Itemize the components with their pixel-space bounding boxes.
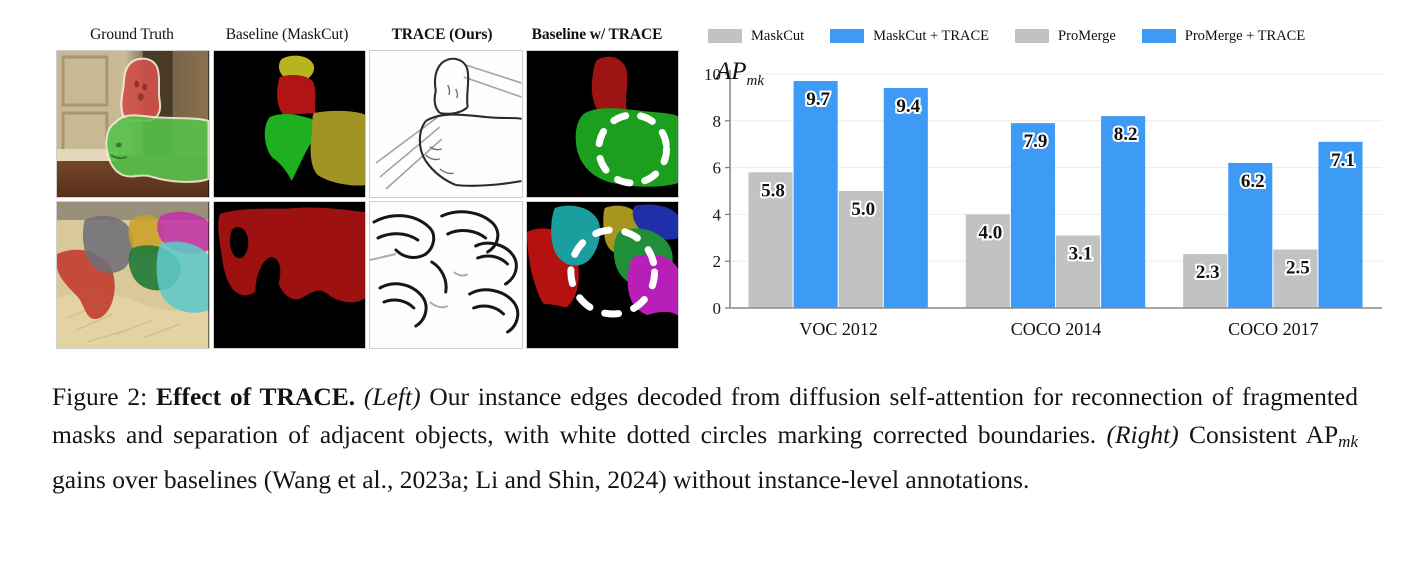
chart-plot-area: 02468105.85.89.79.75.05.09.49.4VOC 20124… xyxy=(690,56,1390,352)
svg-text:6: 6 xyxy=(713,159,722,178)
panel-header-ground-truth: Ground Truth xyxy=(56,22,208,48)
panel-header-baseline-maskcut: Baseline (MaskCut) xyxy=(211,22,363,48)
caption-left-tag: (Left) xyxy=(364,382,421,411)
svg-text:7.1: 7.1 xyxy=(1331,150,1355,171)
svg-text:7.9: 7.9 xyxy=(1024,131,1048,152)
legend-swatch-maskcut-trace xyxy=(830,29,864,43)
svg-text:8.2: 8.2 xyxy=(1114,124,1138,145)
caption-title: Effect of TRACE. xyxy=(156,382,355,411)
panel-header-baseline-w-trace: Baseline w/ TRACE xyxy=(521,22,673,48)
panel-trace-edges-cows-sheep xyxy=(369,201,523,349)
svg-text:5.8: 5.8 xyxy=(761,180,785,201)
chart-svg: 02468105.85.89.79.75.05.09.49.4VOC 20124… xyxy=(690,56,1390,352)
svg-text:2.3: 2.3 xyxy=(1196,262,1220,283)
caption-ap-subscript: mk xyxy=(1338,432,1358,451)
svg-text:9.7: 9.7 xyxy=(806,89,830,110)
legend-swatch-promerge xyxy=(1015,29,1049,43)
svg-text:9.4: 9.4 xyxy=(896,96,920,117)
legend-item-maskcut-trace: MaskCut + TRACE xyxy=(830,28,989,45)
caption-right-text-b: gains over baselines (Wang et al., 2023a… xyxy=(52,465,1029,494)
legend-item-promerge: ProMerge xyxy=(1015,28,1116,45)
legend-item-promerge-trace: ProMerge + TRACE xyxy=(1142,28,1305,45)
legend-label-promerge: ProMerge xyxy=(1058,28,1116,45)
panel-baseline-with-trace-cows-sheep xyxy=(526,201,680,349)
panel-row-cows-sheep xyxy=(56,201,682,349)
caption-right-tag: (Right) xyxy=(1106,420,1178,449)
panel-header-row: Ground Truth Baseline (MaskCut) TRACE (O… xyxy=(56,22,682,48)
svg-text:3.1: 3.1 xyxy=(1069,243,1093,264)
svg-text:2: 2 xyxy=(713,252,722,271)
y-axis-title-main: AP xyxy=(716,58,747,85)
legend-item-maskcut: MaskCut xyxy=(708,28,804,45)
svg-text:COCO 2017: COCO 2017 xyxy=(1228,319,1319,339)
panel-trace-edges-cat-dog xyxy=(369,50,523,198)
y-axis-title-sub: mk xyxy=(747,73,765,89)
caption-right-text-a: Consistent AP xyxy=(1179,420,1338,449)
panel-rows xyxy=(56,50,682,349)
legend-label-maskcut: MaskCut xyxy=(751,28,804,45)
caption-figure-number: Figure 2: xyxy=(52,382,147,411)
svg-text:2.5: 2.5 xyxy=(1286,258,1310,279)
chart-legend: MaskCut MaskCut + TRACE ProMerge ProMerg… xyxy=(690,22,1390,50)
panel-row-cat-dog xyxy=(56,50,682,198)
panel-baseline-with-trace-cat-dog xyxy=(526,50,680,198)
panel-ground-truth-cat-dog xyxy=(56,50,210,198)
legend-label-promerge-trace: ProMerge + TRACE xyxy=(1185,28,1305,45)
svg-text:COCO 2014: COCO 2014 xyxy=(1011,319,1102,339)
ap-mk-bar-chart: MaskCut MaskCut + TRACE ProMerge ProMerg… xyxy=(690,22,1390,352)
svg-text:0: 0 xyxy=(713,299,722,318)
panel-header-trace-ours: TRACE (Ours) xyxy=(366,22,518,48)
bar-maskcut-trace-voc-2012 xyxy=(794,81,838,308)
figure-2-container: Ground Truth Baseline (MaskCut) TRACE (O… xyxy=(0,0,1406,573)
legend-label-maskcut-trace: MaskCut + TRACE xyxy=(873,28,989,45)
y-axis-title: APmk xyxy=(716,58,764,90)
svg-text:4: 4 xyxy=(713,205,722,224)
qualitative-panel-grid: Ground Truth Baseline (MaskCut) TRACE (O… xyxy=(56,22,682,350)
panel-ground-truth-cows-sheep xyxy=(56,201,210,349)
svg-text:4.0: 4.0 xyxy=(978,222,1002,243)
legend-swatch-promerge-trace xyxy=(1142,29,1176,43)
svg-text:5.0: 5.0 xyxy=(851,199,875,220)
svg-text:VOC 2012: VOC 2012 xyxy=(799,319,878,339)
panel-baseline-maskcut-cows-sheep xyxy=(213,201,367,349)
svg-text:8: 8 xyxy=(713,112,722,131)
legend-swatch-maskcut xyxy=(708,29,742,43)
bar-promerge-trace-voc-2012 xyxy=(884,88,928,308)
figure-caption: Figure 2: Effect of TRACE. (Left) Our in… xyxy=(52,378,1358,499)
panel-baseline-maskcut-cat-dog xyxy=(213,50,367,198)
svg-text:6.2: 6.2 xyxy=(1241,171,1265,192)
